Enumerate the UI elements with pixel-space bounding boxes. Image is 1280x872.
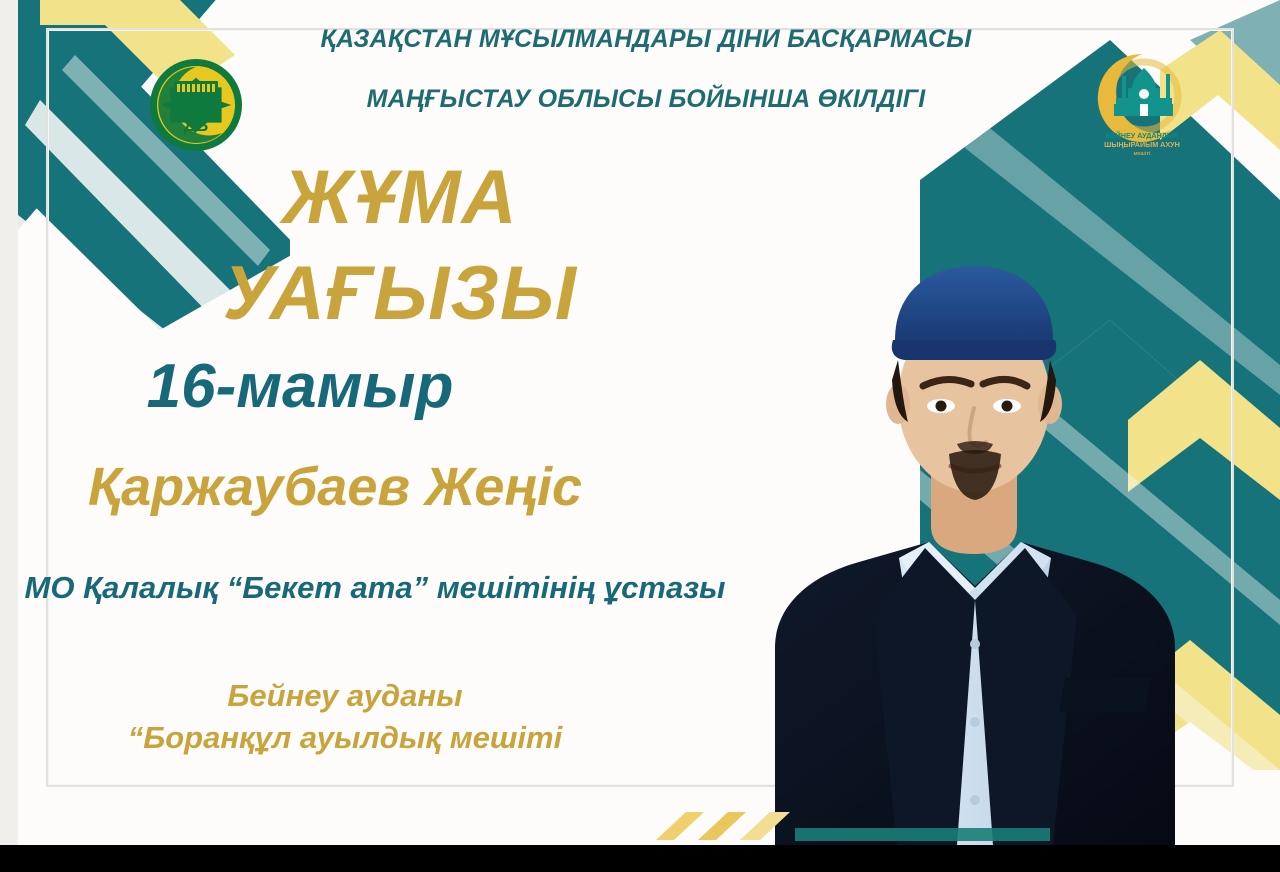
- footer-line-2: “Боранқұл ауылдық мешіті: [0, 717, 690, 759]
- mosque-logo-line2: ШЫҢЫРАЙЫМ АХУН: [1104, 140, 1180, 149]
- sermon-date: 16-мамыр: [0, 356, 760, 418]
- poster-card: ҚМ ДБ: [0, 0, 1280, 845]
- organization-header: ҚАЗАҚСТАН МҰСЫЛМАНДАРЫ ДІНИ БАСҚАРМАСЫ М…: [196, 26, 1096, 113]
- friday-sermon-poster: ҚМ ДБ: [0, 0, 1280, 872]
- mosque-logo-line3: мешіті: [1133, 151, 1151, 157]
- beyneu-mosque-logo: БЕЙНЕУ АУДАНДЫҚ ШЫҢЫРАЙЫМ АХУН мешіті: [1082, 46, 1202, 166]
- title-line-2: УАҒЫЗЫ: [0, 256, 760, 332]
- mosque-logo-line1: БЕЙНЕУ АУДАНДЫҚ: [1106, 131, 1179, 140]
- kmdb-logo: ҚМ ДБ: [148, 57, 244, 153]
- header-line-2: МАҢҒЫСТАУ ОБЛЫСЫ БОЙЫНША ӨКІЛДІГІ: [196, 86, 1096, 112]
- footer-line-1: Бейнеу ауданы: [0, 675, 690, 717]
- speaker-name: Қаржаубаев Жеңіс: [0, 460, 760, 514]
- footer-text: Бейнеу ауданы “Боранқұл ауылдық мешіті: [0, 675, 760, 759]
- svg-text:ҚМ: ҚМ: [184, 98, 209, 117]
- speaker-photo: [735, 248, 1235, 845]
- gold-accent-strokes: [646, 806, 816, 845]
- main-text-block: ЖҰМА УАҒЫЗЫ 16-мамыр Қаржаубаев Жеңіс МО…: [0, 160, 760, 759]
- bottom-black-bar: [0, 845, 1280, 872]
- teal-shelf-accent: [795, 828, 1050, 841]
- header-line-1: ҚАЗАҚСТАН МҰСЫЛМАНДАРЫ ДІНИ БАСҚАРМАСЫ: [196, 26, 1096, 52]
- title-line-1: ЖҰМА: [0, 160, 760, 236]
- speaker-role: МО Қалалық “Бекет ата” мешітінің ұстазы: [0, 572, 760, 603]
- svg-text:ДБ: ДБ: [184, 116, 208, 135]
